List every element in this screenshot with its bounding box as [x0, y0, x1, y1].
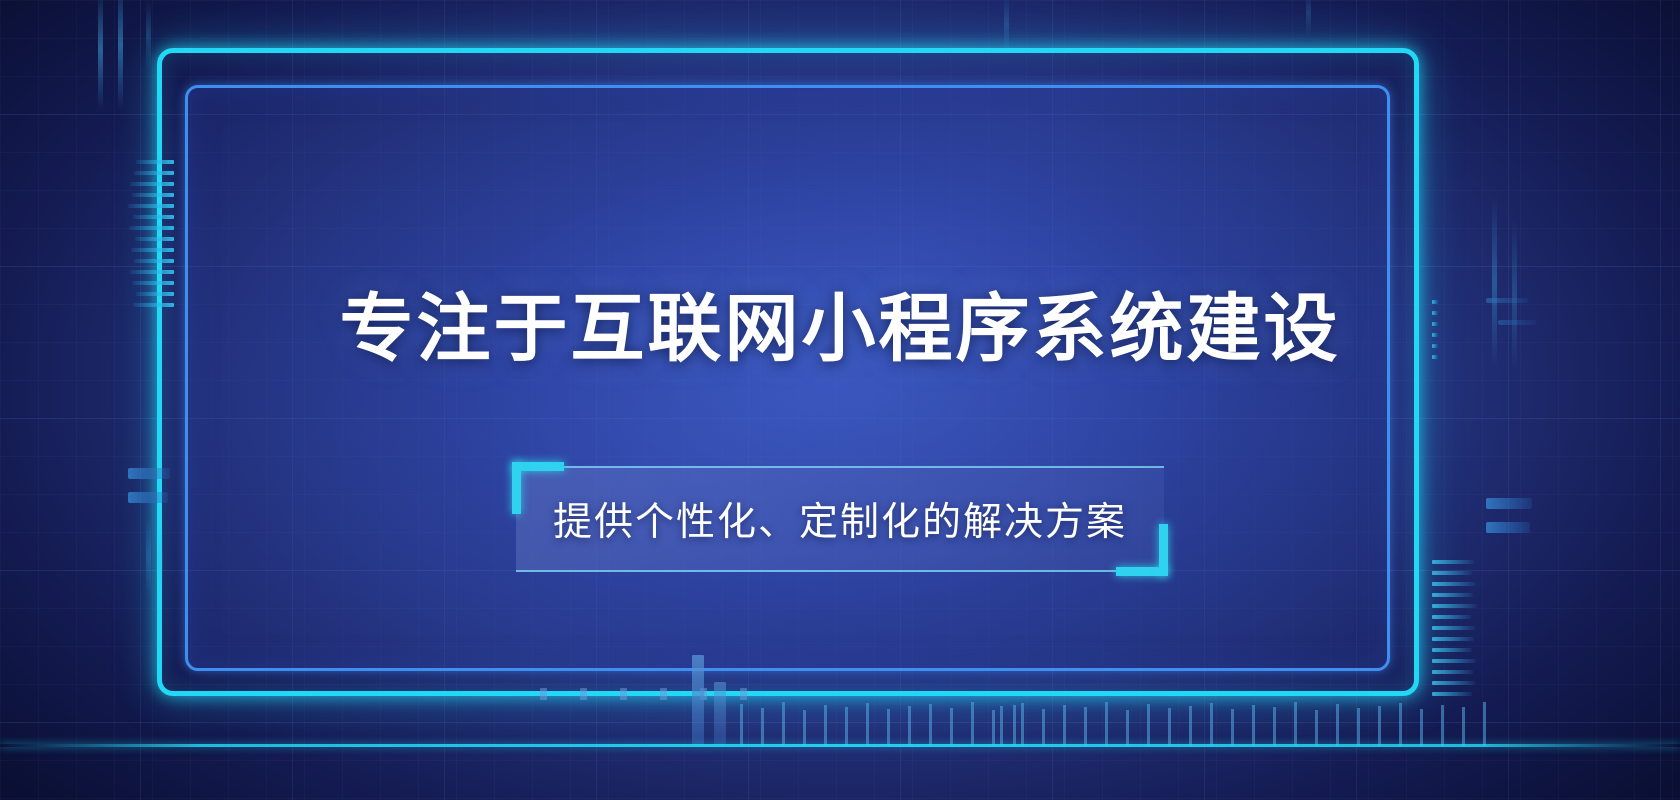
streak-decoration: [98, 0, 103, 110]
inner-neon-frame: [185, 85, 1390, 671]
bottom-neon-baseline: [0, 744, 1680, 747]
bottom-tall-bar: [692, 655, 704, 745]
bottom-ticks-right: [1000, 700, 1504, 746]
hero-subtitle: 提供个性化、定制化的解决方案: [553, 491, 1127, 547]
streak-decoration: [1004, 0, 1009, 54]
streak-decoration: [118, 0, 123, 110]
right-bar-stack-lower: [1432, 560, 1477, 703]
streak-decoration: [1306, 0, 1311, 36]
bottom-tall-bar: [714, 682, 726, 745]
bottom-ticks-left: [740, 700, 1034, 746]
hero-subtitle-wrap: 提供个性化、定制化的解决方案: [0, 466, 1680, 572]
streak-decoration: [146, 0, 151, 70]
hero-banner: 专注于互联网小程序系统建设 提供个性化、定制化的解决方案: [0, 0, 1680, 800]
hero-title-wrap: 专注于互联网小程序系统建设: [0, 292, 1680, 366]
hero-title: 专注于互联网小程序系统建设: [340, 292, 1341, 366]
subtitle-bracket-box: 提供个性化、定制化的解决方案: [516, 466, 1164, 572]
